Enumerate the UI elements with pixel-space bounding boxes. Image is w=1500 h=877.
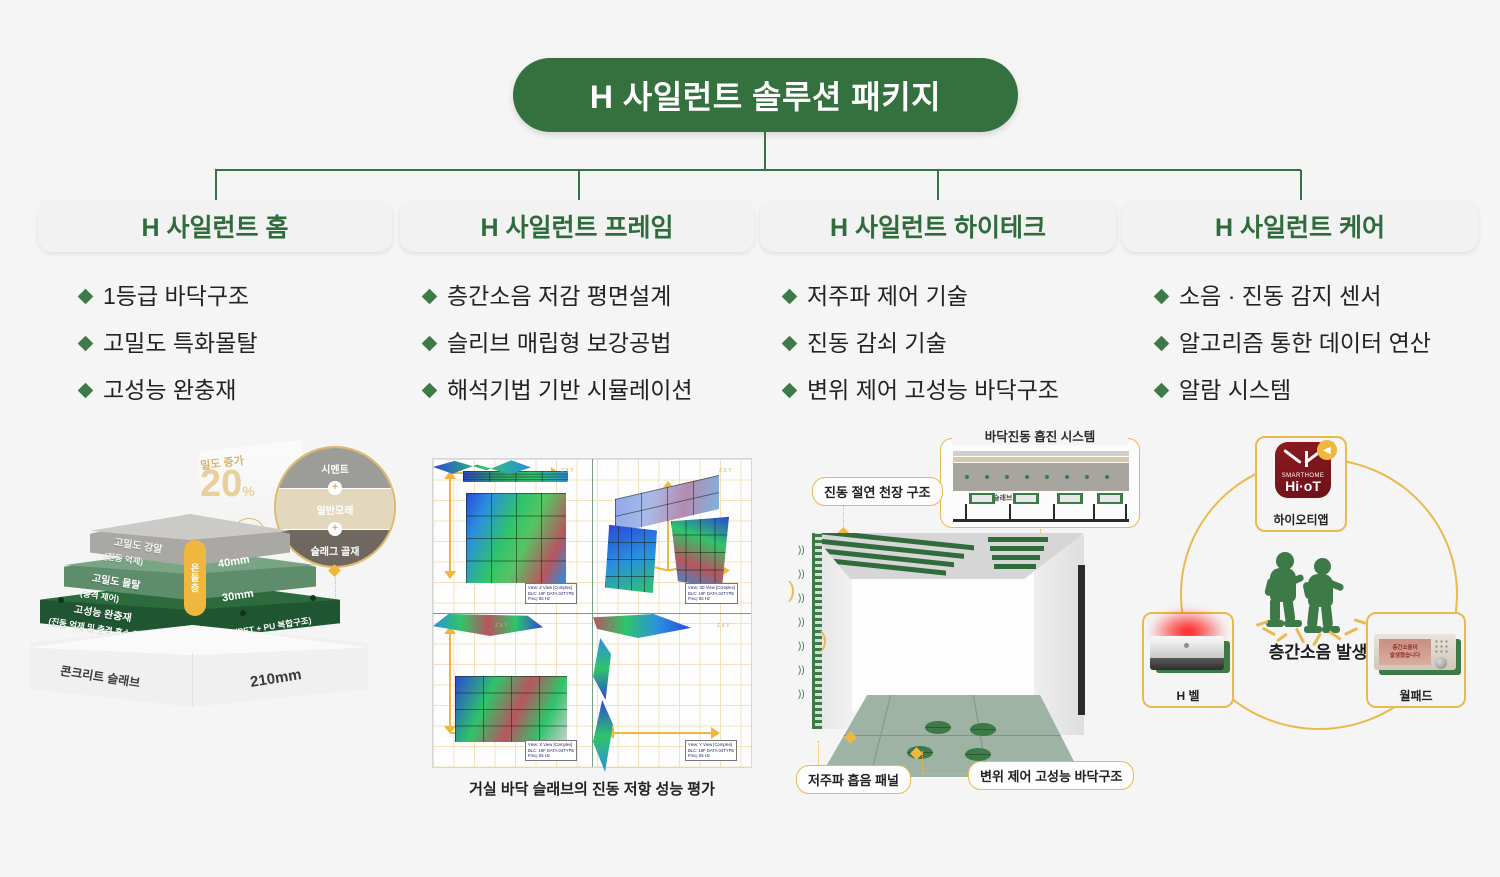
- fea-legend-box: View: 3D View [Complex] BLC: 19F DATA,04…: [685, 583, 738, 604]
- connector-drop-4: [1300, 170, 1302, 202]
- house-roof-icon: [1286, 449, 1320, 467]
- speaker-icon: ◀: [1317, 440, 1337, 460]
- figure-room-section: RC슬래브 바닥진동 흡진 시스템 진동 절연 천장 구조: [790, 425, 1150, 825]
- app-brand: Hi·oT: [1285, 479, 1321, 493]
- column-heading-2: H 사일런트 프레임: [481, 208, 674, 244]
- connector-trunk: [764, 132, 766, 170]
- fea-mesh: [455, 676, 567, 742]
- fea-legend-box: View: Y View [Complex] BLC: 19F DATA,04T…: [685, 740, 737, 761]
- anchor-dot-icon: [240, 610, 246, 616]
- plus-icon: +: [328, 481, 342, 495]
- diamond-bullet-icon: [1154, 335, 1170, 351]
- connector-bus: [215, 169, 1301, 171]
- column-heading-1: H 사일런트 홈: [142, 208, 289, 244]
- fea-mesh: [593, 638, 611, 700]
- sound-wave-icon: ): [820, 627, 827, 653]
- column-silent-hitech: H 사일런트 하이테크 저주파 제어 기술 진동 감쇠 기술 변위 제어 고성능…: [752, 200, 1124, 422]
- sound-wave-icon: )): [798, 641, 805, 652]
- callout-top-label: 바닥진동 흡진 시스템: [952, 426, 1128, 445]
- damper-unit: [1097, 493, 1123, 504]
- diamond-bullet-icon: [422, 382, 438, 398]
- list-item: 1등급 바닥구조: [80, 282, 400, 311]
- list-item: 알고리즘 통한 데이터 연산: [1156, 329, 1486, 358]
- bullet-text: 저주파 제어 기술: [807, 282, 968, 311]
- list-item: 알람 시스템: [1156, 376, 1486, 405]
- sound-wave-icon: )): [798, 617, 805, 628]
- noise-event-caption: 층간소음 발생: [1210, 638, 1426, 663]
- infographic-canvas: H 사일런트 솔루션 패키지 H 사일런트 홈 1등급 바닥구조 고밀도 특화몰…: [0, 0, 1500, 877]
- list-item: 고성능 완충재: [80, 376, 400, 405]
- node-hiot-app: SMARTHOME Hi·oT ◀ 하이오티앱: [1255, 436, 1347, 532]
- sound-wave-icon: )): [798, 569, 805, 580]
- list-item: 고밀도 특화몰탈: [80, 329, 400, 358]
- figure-iot-alarm-loop: SMARTHOME Hi·oT ◀ 하이오티앱 H 벨 층간소음이 발생했습니다: [1150, 440, 1490, 770]
- list-item: 소음 · 진동 감지 센서: [1156, 282, 1486, 311]
- callout-ceiling-isolation: 진동 절연 천장 구조: [812, 477, 943, 506]
- fea-caption: 거실 바닥 슬래브의 진동 저항 성능 평가: [432, 778, 752, 799]
- list-item: 변위 제어 고성능 바닥구조: [784, 376, 1124, 405]
- axis-hint: Z X Y: [717, 624, 729, 630]
- diamond-bullet-icon: [782, 382, 798, 398]
- anchor-dot-icon: [58, 597, 64, 603]
- fea-mesh: [463, 471, 568, 482]
- figure-floor-layers: 밀도 증가 20% 시멘트 일반모래 슬래그 골재 + + 고성능 완충재 (진…: [22, 440, 402, 740]
- connector-drop-1: [215, 170, 217, 202]
- fea-mesh: [593, 614, 691, 638]
- fea-quadrant-z: Z X Y View: Z View [Complex] BLC: 19F DA…: [433, 459, 592, 613]
- diamond-bullet-icon: [78, 335, 94, 351]
- plus-icon: +: [328, 522, 342, 536]
- column-silent-home: H 사일런트 홈 1등급 바닥구조 고밀도 특화몰탈 고성능 완충재: [30, 200, 400, 422]
- diamond-bullet-icon: [78, 382, 94, 398]
- fea-quadrant-y: Z X Y View: Y View [Complex] BLC: 19F DA…: [593, 614, 752, 768]
- leader-line: [922, 773, 970, 774]
- list-item: 진동 감쇠 기술: [784, 329, 1124, 358]
- wallpad-caption: 월패드: [1368, 687, 1464, 704]
- column-heading-4: H 사일런트 케어: [1215, 208, 1385, 244]
- room-back-wall: [852, 561, 1034, 711]
- fea-legend-box: View: X View [Complex] BLC: 19F DATA,04T…: [525, 740, 577, 761]
- sound-wave-icon: )): [798, 665, 805, 676]
- bullet-text: 고성능 완충재: [103, 376, 236, 405]
- diamond-bullet-icon: [782, 289, 798, 305]
- list-item: 저주파 제어 기술: [784, 282, 1124, 311]
- fea-quadrant-x: Z X Y View: X View [Complex] BLC: 19F DA…: [433, 614, 592, 768]
- bullet-text: 1등급 바닥구조: [103, 282, 249, 311]
- figure-fea-simulation: Z X Y View: Z View [Complex] BLC: 19F DA…: [432, 458, 752, 768]
- column-heading-card-2: H 사일런트 프레임: [400, 200, 754, 252]
- damper-unit: [969, 493, 995, 504]
- bullet-text: 슬리브 매립형 보강공법: [447, 329, 671, 358]
- bullet-text: 알고리즘 통한 데이터 연산: [1179, 329, 1431, 358]
- fea-mesh: [593, 700, 613, 772]
- h-bell-caption: H 벨: [1144, 687, 1232, 704]
- sound-wave-icon: )): [798, 689, 805, 700]
- list-item: 해석기법 기반 시뮬레이션: [424, 376, 762, 405]
- ondol-label: 온돌층: [189, 563, 202, 593]
- fea-legend-box: View: Z View [Complex] BLC: 19F DATA,04T…: [525, 583, 577, 604]
- floor-damper: [925, 721, 951, 734]
- bullet-text: 소음 · 진동 감지 센서: [1179, 282, 1382, 311]
- slab-finish-layer: [953, 451, 1129, 456]
- list-item: 슬리브 매립형 보강공법: [424, 329, 762, 358]
- diamond-bullet-icon: [1154, 382, 1170, 398]
- anchor-dot-icon: [310, 595, 316, 601]
- fea-mesh: [671, 517, 729, 587]
- damper-unit: [1013, 493, 1039, 504]
- sound-wave-icon: ): [788, 577, 795, 603]
- bullet-list-1: 1등급 바닥구조 고밀도 특화몰탈 고성능 완충재: [30, 282, 400, 404]
- mortar-composition-circle: 시멘트 일반모래 슬래그 골재 + +: [274, 446, 396, 568]
- house-chimney-icon: [1305, 451, 1308, 467]
- callout-absorber-panel: 저주파 흡음 패널: [796, 765, 911, 794]
- column-silent-frame: H 사일런트 프레임 층간소음 저감 평면설계 슬리브 매립형 보강공법 해석기…: [392, 200, 762, 422]
- damping-system-callout-card: RC슬래브: [940, 438, 1140, 528]
- room-door-edge: [1078, 565, 1085, 715]
- bullet-list-2: 층간소음 저감 평면설계 슬리브 매립형 보강공법 해석기법 기반 시뮬레이션: [392, 282, 762, 404]
- hiot-app-caption: 하이오티앱: [1257, 511, 1345, 528]
- bullet-text: 층간소음 저감 평면설계: [447, 282, 671, 311]
- floor-damper: [970, 723, 996, 736]
- fea-quadrant-3d: Z X Y View: 3D View [Complex] BLC: 19F D…: [593, 459, 752, 613]
- bullet-text: 알람 시스템: [1179, 376, 1291, 405]
- slab-screed-layer: [953, 457, 1129, 462]
- callout-displacement-floor: 변위 제어 고성능 바닥구조: [968, 761, 1134, 790]
- axis-hint: Z X Y: [561, 469, 573, 475]
- axis-hint: Z X Y: [495, 624, 507, 630]
- column-heading-card-3: H 사일런트 하이테크: [760, 200, 1116, 252]
- room-interior: )) )) )) )) )) )) )) ) ): [800, 525, 1100, 775]
- bullet-text: 진동 감쇠 기술: [807, 329, 947, 358]
- children-noise-illustration: [1258, 552, 1368, 632]
- leader-line: [922, 751, 923, 773]
- page-title: H 사일런트 솔루션 패키지: [590, 72, 941, 118]
- diamond-bullet-icon: [782, 335, 798, 351]
- wallpad-knob-icon: [1435, 657, 1447, 669]
- diamond-bullet-icon: [1154, 289, 1170, 305]
- diamond-bullet-icon: [422, 335, 438, 351]
- leader-line: [818, 741, 819, 765]
- axis-hint: Z X Y: [719, 469, 731, 475]
- bullet-text: 해석기법 기반 시뮬레이션: [447, 376, 693, 405]
- connector-drop-2: [578, 170, 580, 202]
- damper-unit: [1057, 493, 1083, 504]
- package-title-pill: H 사일런트 솔루션 패키지: [513, 58, 1018, 132]
- ondol-layer-badge: 온돌층: [184, 540, 206, 616]
- floor-damper: [965, 748, 991, 761]
- connector-drop-3: [937, 170, 939, 202]
- bullet-text: 고밀도 특화몰탈: [103, 329, 258, 358]
- diamond-bullet-icon: [78, 289, 94, 305]
- diamond-bullet-icon: [422, 289, 438, 305]
- fea-mesh: [466, 493, 566, 583]
- bullet-list-3: 저주파 제어 기술 진동 감쇠 기술 변위 제어 고성능 바닥구조: [752, 282, 1124, 404]
- column-heading-card-1: H 사일런트 홈: [38, 200, 392, 252]
- rc-slab-block: RC슬래브: [953, 463, 1129, 491]
- support-base-line: [953, 519, 1129, 522]
- slab-edge-line: [192, 653, 193, 707]
- bullet-text: 변위 제어 고성능 바닥구조: [807, 376, 1059, 405]
- sound-wave-icon: )): [798, 593, 805, 604]
- bullet-list-4: 소음 · 진동 감지 센서 알고리즘 통한 데이터 연산 알람 시스템: [1114, 282, 1486, 404]
- fea-mesh: [605, 525, 657, 593]
- wallpad-keypad-icon: [1434, 639, 1449, 655]
- column-heading-card-4: H 사일런트 케어: [1122, 200, 1478, 252]
- column-heading-3: H 사일런트 하이테크: [830, 208, 1046, 244]
- list-item: 층간소음 저감 평면설계: [424, 282, 762, 311]
- column-silent-care: H 사일런트 케어 소음 · 진동 감지 센서 알고리즘 통한 데이터 연산 알…: [1114, 200, 1486, 422]
- leader-line: [335, 572, 336, 600]
- sound-wave-icon: )): [798, 545, 805, 556]
